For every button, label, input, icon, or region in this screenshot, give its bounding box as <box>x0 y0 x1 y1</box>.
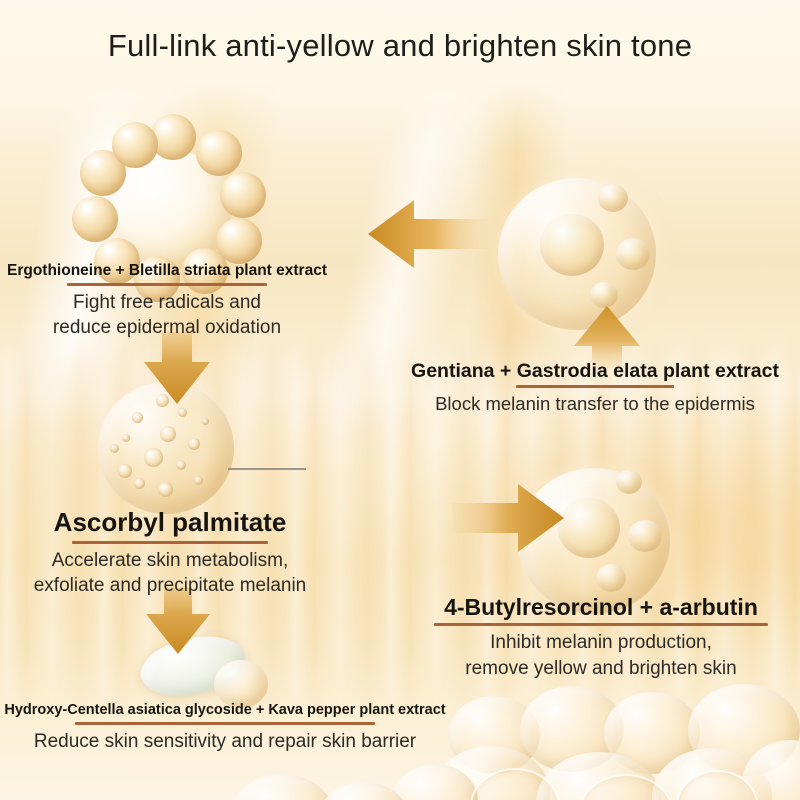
heading-rule <box>75 722 375 725</box>
block-heading: 4-Butylresorcinol + a-arbutin <box>404 594 798 620</box>
block-heading: Ergothioneine + Bletilla striata plant e… <box>2 262 332 280</box>
block-heading: Hydroxy-Centella asiatica glycoside + Ka… <box>0 702 450 719</box>
heading-rule <box>67 283 267 286</box>
bubble-small-bottom-left <box>214 660 268 708</box>
block-description: Fight free radicals and reduce epidermal… <box>2 290 332 341</box>
block-ergothioneine: Ergothioneine + Bletilla striata plant e… <box>2 262 332 341</box>
heading-rule <box>516 385 674 388</box>
block-heading: Gentiana + Gastrodia elata plant extract <box>392 360 798 382</box>
infographic-poster: Full-link anti-yellow and brighten skin … <box>0 0 800 800</box>
block-hydroxy-centella: Hydroxy-Centella asiatica glycoside + Ka… <box>0 702 450 754</box>
block-heading: Ascorbyl palmitate <box>0 508 340 538</box>
block-gentiana: Gentiana + Gastrodia elata plant extract… <box>392 360 798 417</box>
block-description: Accelerate skin metabolism, exfoliate an… <box>0 548 340 599</box>
arrow-up-icon <box>572 306 642 368</box>
arrow-left-icon <box>368 196 488 272</box>
heading-rule <box>434 623 768 626</box>
block-ascorbyl-palmitate: Ascorbyl palmitate Accelerate skin metab… <box>0 508 340 599</box>
block-description: Inhibit melanin production, remove yello… <box>404 630 798 681</box>
block-description: Block melanin transfer to the epidermis <box>392 392 798 417</box>
hairline-connector <box>228 468 306 470</box>
arrow-down-icon <box>140 332 214 404</box>
page-title: Full-link anti-yellow and brighten skin … <box>0 28 800 64</box>
heading-rule <box>72 541 268 544</box>
block-description: Reduce skin sensitivity and repair skin … <box>0 729 450 754</box>
block-butylresorcinol: 4-Butylresorcinol + a-arbutin Inhibit me… <box>404 594 798 681</box>
arrow-right-icon <box>452 482 564 554</box>
